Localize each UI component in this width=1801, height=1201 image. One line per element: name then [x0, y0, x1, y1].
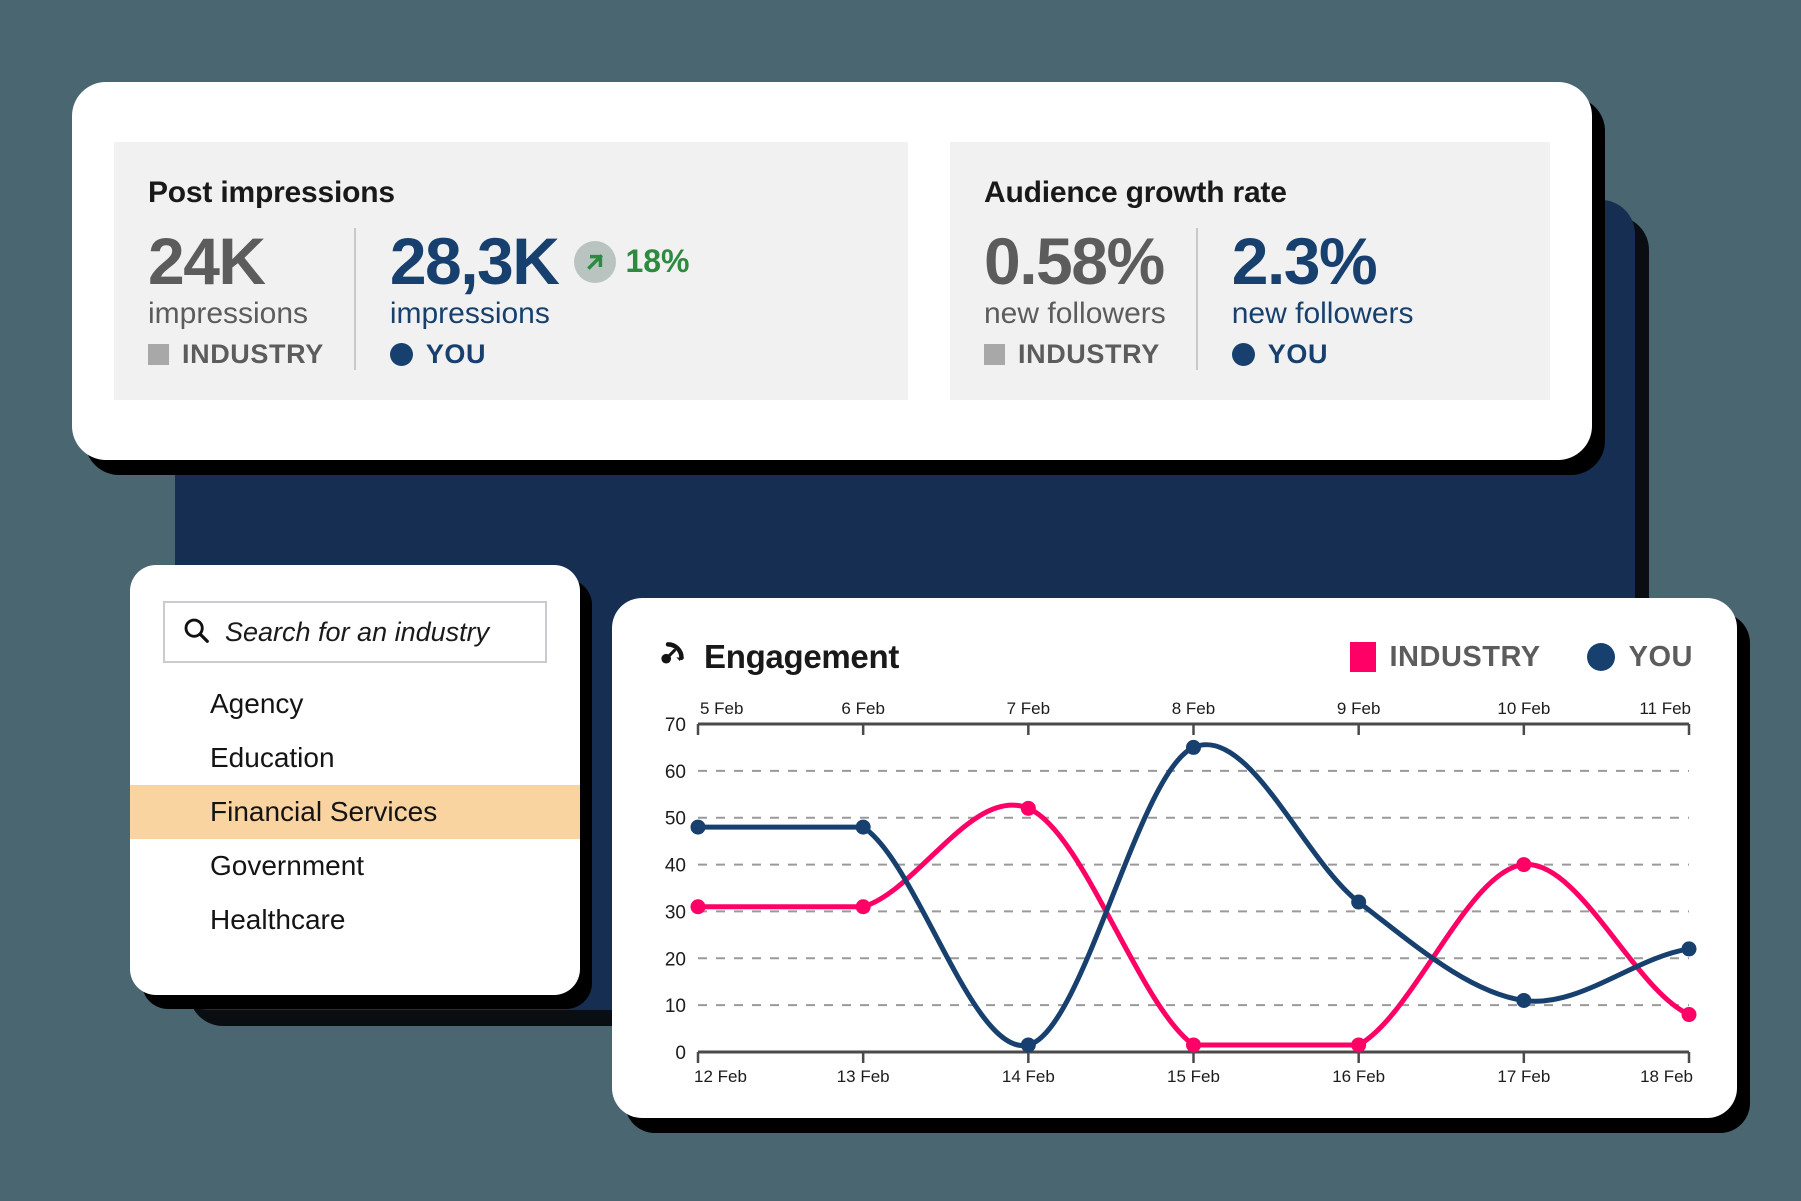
kpi-value-industry: 0.58%	[984, 228, 1164, 295]
chart-legend-label-industry: INDUSTRY	[1390, 641, 1541, 674]
kpi-card: Post impressions 24K impressions INDUSTR…	[72, 82, 1592, 460]
svg-text:12 Feb: 12 Feb	[694, 1067, 747, 1086]
industry-list-item-selected[interactable]: Financial Services	[130, 785, 580, 839]
engagement-gauge-icon	[656, 638, 690, 677]
chart-title: Engagement	[704, 638, 899, 676]
arrow-up-right-icon	[574, 241, 616, 283]
kpi-legend-label-industry: INDUSTRY	[182, 339, 324, 370]
kpi-title: Post impressions	[148, 176, 874, 210]
kpi-legend-label-industry: INDUSTRY	[1018, 339, 1160, 370]
industry-list-item[interactable]: Government	[130, 839, 580, 893]
kpi-panel-audience-growth-rate: Audience growth rate 0.58% new followers…	[950, 142, 1550, 400]
chart-legend-item-industry: INDUSTRY	[1350, 641, 1541, 674]
kpi-title: Audience growth rate	[984, 176, 1516, 210]
kpi-panel-post-impressions: Post impressions 24K impressions INDUSTR…	[114, 142, 908, 400]
svg-text:9 Feb: 9 Feb	[1337, 699, 1380, 718]
kpi-unit-you: impressions	[390, 297, 690, 331]
kpi-delta-value: 18%	[625, 243, 689, 280]
industry-list-item[interactable]: Agency	[130, 677, 580, 731]
svg-text:60: 60	[665, 762, 686, 783]
search-box[interactable]	[163, 601, 547, 663]
svg-text:10: 10	[665, 996, 686, 1017]
circle-icon	[1232, 343, 1255, 366]
kpi-legend-industry: INDUSTRY	[148, 339, 324, 370]
svg-text:11 Feb: 11 Feb	[1639, 699, 1691, 718]
chart-legend: INDUSTRY YOU	[1350, 641, 1694, 674]
industry-list-item[interactable]: Healthcare	[130, 893, 580, 947]
kpi-column-industry: 0.58% new followers INDUSTRY	[984, 228, 1196, 370]
industry-list: Agency Education Financial Services Gove…	[130, 677, 580, 947]
svg-text:10 Feb: 10 Feb	[1497, 699, 1550, 718]
svg-text:30: 30	[665, 902, 686, 923]
kpi-delta: 18%	[574, 241, 689, 283]
svg-text:20: 20	[665, 949, 686, 970]
svg-text:17 Feb: 17 Feb	[1497, 1067, 1550, 1086]
square-icon	[148, 344, 169, 365]
svg-text:18 Feb: 18 Feb	[1640, 1067, 1693, 1086]
chart-header: Engagement INDUSTRY YOU	[638, 628, 1701, 686]
chart-legend-label-you: YOU	[1629, 641, 1693, 674]
kpi-legend-industry: INDUSTRY	[984, 339, 1166, 370]
kpi-unit-industry: new followers	[984, 297, 1166, 331]
kpi-unit-you: new followers	[1232, 297, 1414, 331]
kpi-legend-you: YOU	[1232, 339, 1414, 370]
svg-text:70: 70	[665, 715, 686, 736]
kpi-value-industry: 24K	[148, 228, 265, 295]
kpi-value-you: 28,3K	[390, 228, 559, 295]
kpi-column-you: 2.3% new followers YOU	[1196, 228, 1444, 370]
industry-picker-card: Agency Education Financial Services Gove…	[130, 565, 580, 995]
svg-text:13 Feb: 13 Feb	[837, 1067, 890, 1086]
svg-text:40: 40	[665, 856, 686, 877]
square-icon	[1350, 642, 1376, 672]
svg-text:8 Feb: 8 Feb	[1172, 699, 1215, 718]
circle-icon	[1587, 643, 1615, 671]
svg-text:7 Feb: 7 Feb	[1007, 699, 1050, 718]
svg-text:0: 0	[675, 1043, 686, 1064]
svg-text:6 Feb: 6 Feb	[841, 699, 884, 718]
kpi-legend-label-you: YOU	[1268, 339, 1328, 370]
svg-text:50: 50	[665, 809, 686, 830]
search-input[interactable]	[225, 617, 529, 648]
svg-text:5 Feb: 5 Feb	[700, 699, 743, 718]
engagement-plot-svg: 0102030405060705 Feb12 Feb6 Feb13 Feb7 F…	[638, 692, 1701, 1092]
kpi-legend-you: YOU	[390, 339, 690, 370]
kpi-value-you: 2.3%	[1232, 228, 1376, 295]
kpi-column-you: 28,3K 18% impressions YOU	[354, 228, 720, 370]
engagement-plot: 0102030405060705 Feb12 Feb6 Feb13 Feb7 F…	[638, 692, 1701, 1092]
circle-icon	[390, 343, 413, 366]
svg-text:16 Feb: 16 Feb	[1332, 1067, 1385, 1086]
kpi-unit-industry: impressions	[148, 297, 324, 331]
industry-list-item[interactable]: Education	[130, 731, 580, 785]
kpi-column-industry: 24K impressions INDUSTRY	[148, 228, 354, 370]
square-icon	[984, 344, 1005, 365]
engagement-chart-card: Engagement INDUSTRY YOU 0102030405060705…	[612, 598, 1737, 1118]
svg-text:15 Feb: 15 Feb	[1167, 1067, 1220, 1086]
search-icon	[181, 615, 211, 650]
kpi-legend-label-you: YOU	[426, 339, 486, 370]
chart-legend-item-you: YOU	[1587, 641, 1693, 674]
svg-text:14 Feb: 14 Feb	[1002, 1067, 1055, 1086]
